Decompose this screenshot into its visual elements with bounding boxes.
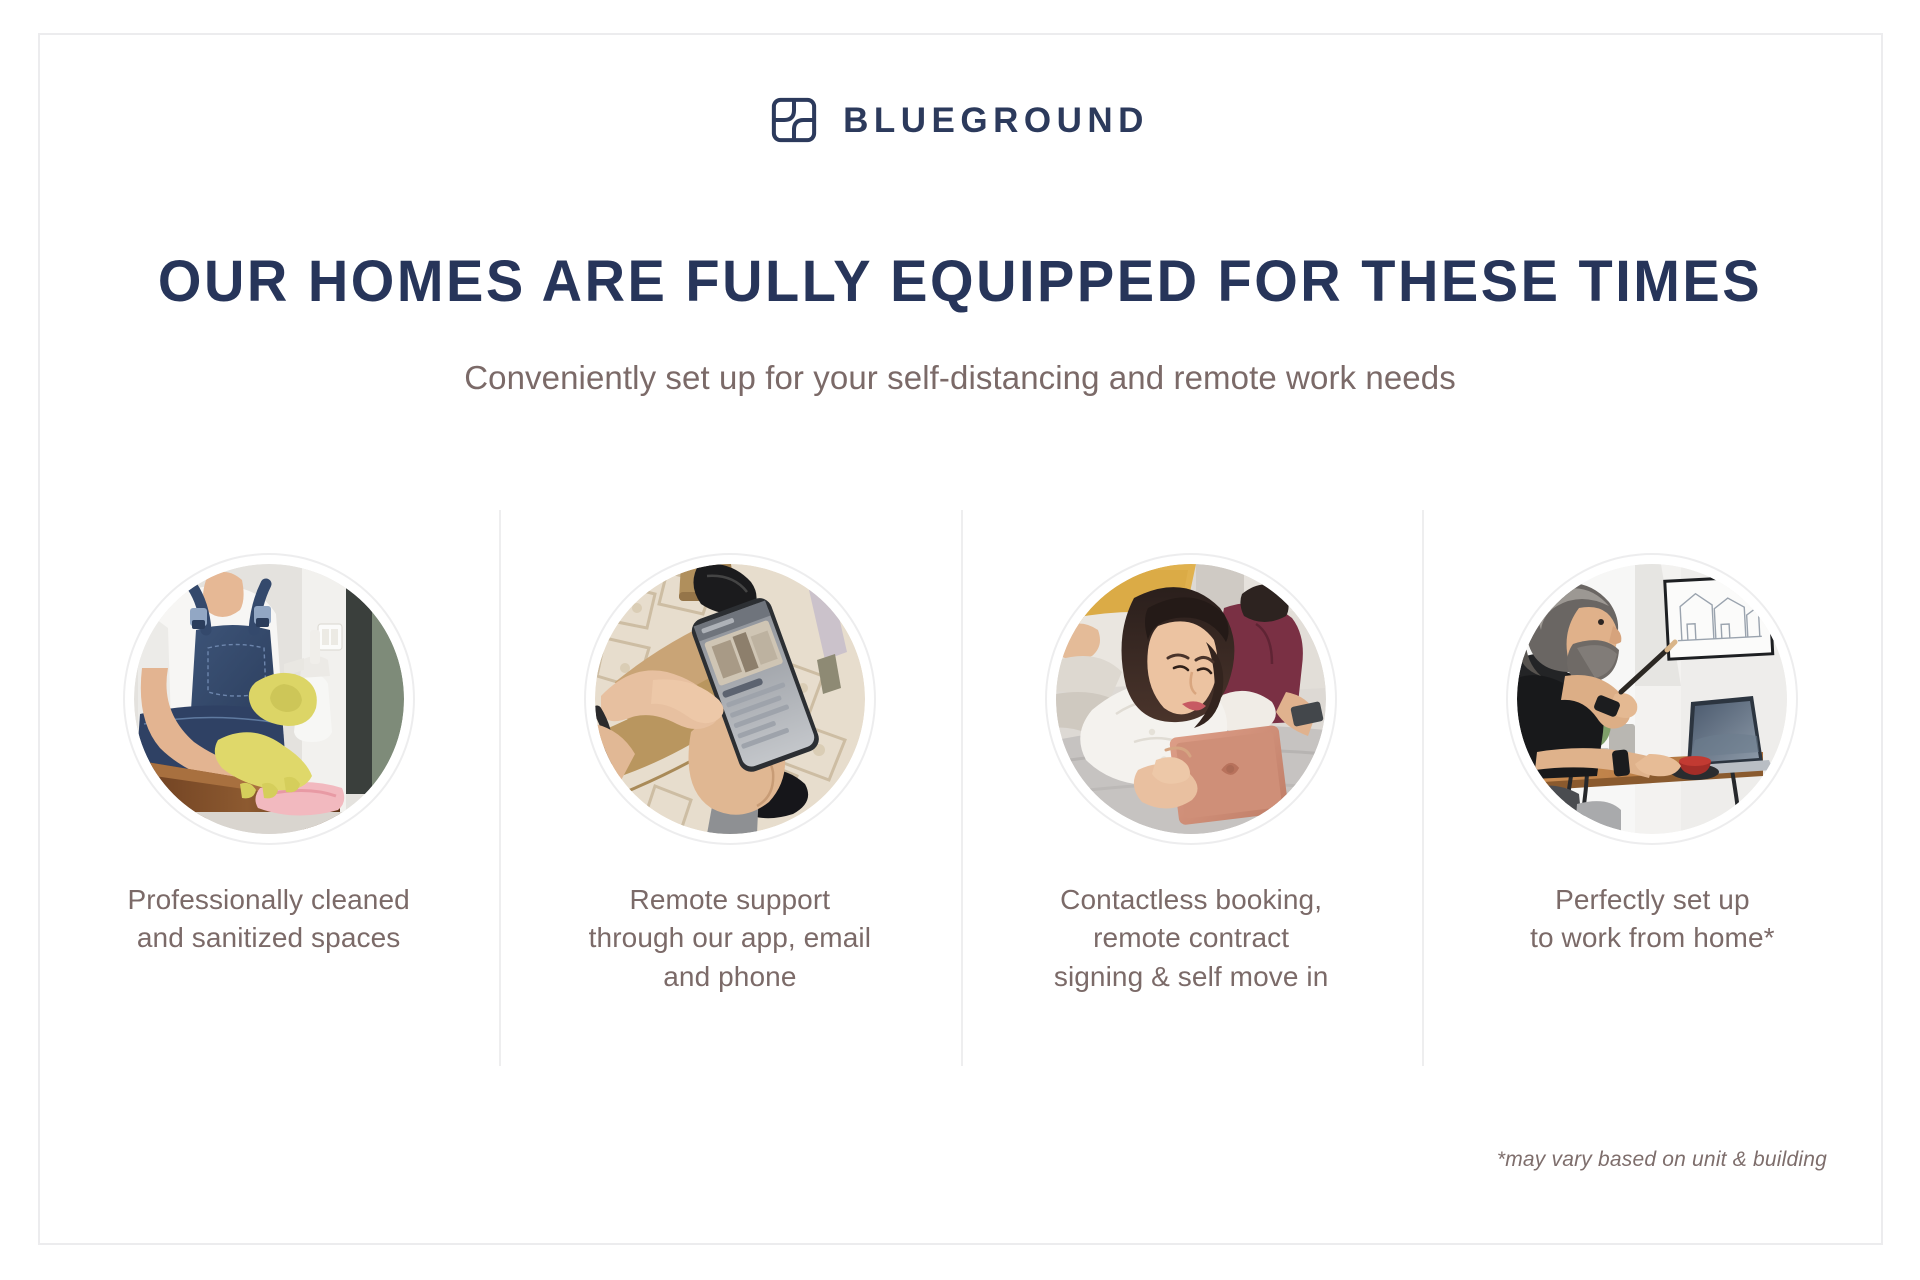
blueground-square-mark-icon	[771, 97, 817, 143]
smartphone-photo-image	[595, 564, 865, 834]
feature-caption: Perfectly set up to work from home*	[1530, 881, 1775, 958]
smartphone-photo	[586, 555, 874, 843]
feature-item-work-from-home: Perfectly set up to work from home*	[1422, 510, 1883, 1066]
poster-page: BLUEGROUND OUR HOMES ARE FULLY EQUIPPED …	[0, 0, 1920, 1280]
work-from-home-photo	[1508, 555, 1796, 843]
page-subtitle: Conveniently set up for your self-distan…	[0, 357, 1920, 398]
tablet-photo	[1047, 555, 1335, 843]
feature-item-remote-support: Remote support through our app, email an…	[499, 510, 960, 1066]
feature-caption: Remote support through our app, email an…	[589, 881, 871, 996]
brand-wordmark: BLUEGROUND	[843, 103, 1149, 138]
tablet-photo-image	[1056, 564, 1326, 834]
cleaning-photo	[125, 555, 413, 843]
work-from-home-photo-image	[1517, 564, 1787, 834]
page-title: OUR HOMES ARE FULLY EQUIPPED FOR THESE T…	[34, 253, 1887, 311]
feature-caption: Contactless booking, remote contract sig…	[1054, 881, 1329, 996]
feature-item-cleaning: Professionally cleaned and sanitized spa…	[38, 510, 499, 1066]
feature-caption: Professionally cleaned and sanitized spa…	[127, 881, 409, 958]
feature-row: Professionally cleaned and sanitized spa…	[38, 510, 1883, 1066]
feature-item-contactless-booking: Contactless booking, remote contract sig…	[961, 510, 1422, 1066]
brand-lockup: BLUEGROUND	[0, 97, 1920, 143]
footnote-disclaimer: *may vary based on unit & building	[1497, 1148, 1827, 1172]
cleaning-photo-image	[134, 564, 404, 834]
